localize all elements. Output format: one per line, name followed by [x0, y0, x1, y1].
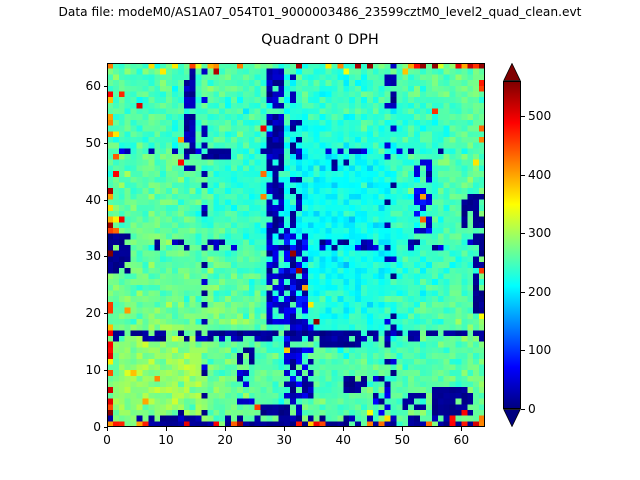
x-tick-label: 20 [217, 433, 233, 447]
y-tick-mark [104, 370, 108, 371]
x-tick-mark [225, 427, 226, 431]
x-tick-mark [284, 427, 285, 431]
colorbar-tick-mark [521, 116, 525, 117]
colorbar-tick-label: 100 [528, 343, 551, 357]
x-tick-label: 40 [335, 433, 351, 447]
colorbar-tick-mark [521, 233, 525, 234]
x-tick-label: 60 [454, 433, 470, 447]
x-tick-mark [107, 427, 108, 431]
y-tick-mark [104, 143, 108, 144]
y-tick-label: 40 [85, 193, 101, 207]
x-tick-label: 30 [276, 433, 292, 447]
colorbar-over-arrow-icon [503, 63, 521, 81]
plot-title: Quadrant 0 DPH [0, 32, 640, 48]
y-tick-mark [104, 86, 108, 87]
colorbar-tick-label: 200 [528, 285, 551, 299]
x-tick-mark [402, 427, 403, 431]
y-tick-label: 10 [85, 363, 101, 377]
x-tick-mark [461, 427, 462, 431]
colorbar-tick-mark [521, 175, 525, 176]
x-tick-mark [166, 427, 167, 431]
x-tick-mark [343, 427, 344, 431]
colorbar-tick-label: 0 [528, 402, 536, 416]
matplotlib-figure: Data file: modeM0/AS1A07_054T01_90000034… [0, 0, 640, 480]
x-tick-label: 50 [395, 433, 411, 447]
colorbar-tick-label: 300 [528, 226, 551, 240]
colorbar-tick-mark [521, 409, 525, 410]
dph-heatmap-image [107, 63, 485, 427]
heatmap-axes: 0102030405060 0102030405060 [107, 63, 485, 427]
y-tick-label: 20 [85, 306, 101, 320]
colorbar-under-arrow-icon [503, 409, 521, 427]
data-file-suptitle: Data file: modeM0/AS1A07_054T01_90000034… [0, 5, 640, 19]
y-tick-label: 60 [85, 79, 101, 93]
colorbar-tick-label: 400 [528, 168, 551, 182]
colorbar-gradient [503, 81, 521, 409]
y-tick-mark [104, 256, 108, 257]
y-tick-mark [104, 313, 108, 314]
colorbar-tick-mark [521, 292, 525, 293]
x-tick-label: 10 [158, 433, 174, 447]
colorbar-tick-label: 500 [528, 109, 551, 123]
y-tick-mark [104, 200, 108, 201]
y-tick-label: 30 [85, 249, 101, 263]
colorbar: 0100200300400500 [503, 63, 521, 427]
y-tick-mark [104, 427, 108, 428]
y-tick-label: 0 [93, 420, 101, 434]
colorbar-tick-mark [521, 350, 525, 351]
y-tick-label: 50 [85, 136, 101, 150]
x-tick-label: 0 [103, 433, 111, 447]
